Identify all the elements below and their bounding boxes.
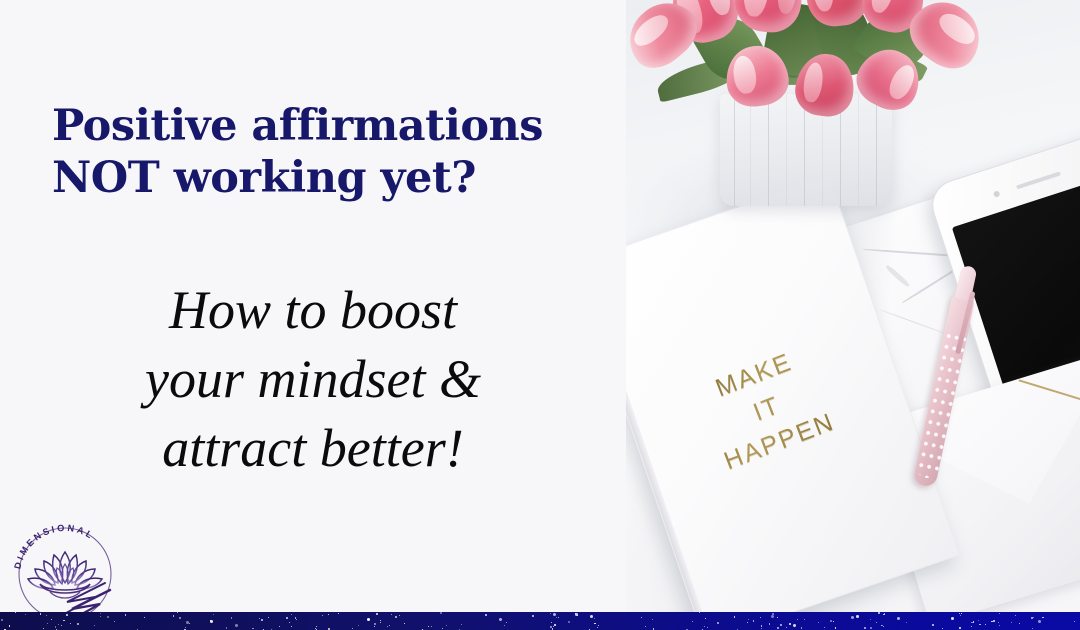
star-dot: [100, 613, 101, 614]
star-dot: [801, 627, 802, 628]
tulip-bouquet: [626, 0, 1010, 202]
star-dot: [973, 621, 974, 622]
star-dot: [835, 627, 836, 628]
star-dot: [532, 615, 534, 617]
star-dot: [404, 623, 405, 624]
star-dot: [692, 621, 693, 622]
star-dot: [575, 613, 576, 614]
star-dot: [851, 616, 854, 619]
hero-photo: MAKE IT HAPPEN: [626, 0, 1080, 612]
star-dot: [753, 620, 754, 621]
star-dot: [55, 626, 56, 627]
star-dot: [235, 624, 238, 627]
star-dot: [594, 618, 595, 619]
star-dot: [717, 622, 719, 624]
star-dot: [387, 626, 388, 627]
star-dot: [761, 625, 762, 626]
star-dot: [279, 626, 280, 627]
star-dot: [558, 617, 559, 618]
star-dot: [979, 624, 980, 625]
star-dot: [959, 627, 961, 629]
star-dot: [878, 612, 880, 614]
star-dot: [100, 616, 101, 617]
star-dot: [797, 619, 798, 620]
star-dot: [707, 627, 708, 628]
star-dot: [391, 614, 392, 615]
star-dot: [226, 627, 227, 628]
star-dot: [380, 620, 381, 621]
star-dot: [177, 612, 178, 613]
star-dot: [1019, 623, 1020, 624]
star-dot: [499, 618, 502, 621]
star-dot: [1074, 621, 1075, 622]
star-dot: [506, 622, 507, 623]
star-dot: [985, 624, 986, 625]
star-dot: [789, 623, 791, 625]
star-dot: [699, 612, 700, 613]
star-dot: [761, 628, 762, 629]
star-dot: [971, 622, 972, 623]
star-dot: [46, 615, 47, 616]
star-dot: [374, 626, 375, 627]
star-dot: [9, 625, 10, 626]
star-dot: [653, 628, 654, 629]
star-dot: [43, 628, 44, 629]
star-dot: [998, 622, 999, 623]
star-dot: [1031, 617, 1033, 619]
star-dot: [769, 623, 770, 624]
star-dot: [824, 627, 825, 628]
star-dot: [568, 621, 570, 623]
star-dot: [645, 626, 646, 627]
star-dot: [804, 619, 805, 620]
star-dot: [252, 628, 253, 629]
star-dot: [978, 620, 979, 621]
notebook-cover-text: MAKE IT HAPPEN: [694, 338, 840, 479]
star-dot: [70, 623, 71, 624]
star-dot: [906, 622, 907, 623]
star-dot: [959, 613, 960, 614]
star-dot: [328, 628, 330, 630]
star-dot: [884, 613, 885, 614]
star-dot: [431, 626, 432, 627]
star-dot: [442, 628, 443, 629]
star-dot: [598, 625, 599, 626]
star-dot: [296, 619, 297, 620]
page-title: Positive affirmations NOT working yet?: [52, 100, 592, 204]
star-dot: [641, 617, 642, 618]
star-dot: [328, 614, 329, 615]
star-dot: [552, 628, 553, 629]
star-dot: [291, 626, 292, 627]
star-dot: [179, 617, 181, 619]
star-dot: [876, 622, 877, 623]
star-dot: [210, 620, 211, 621]
star-dot: [389, 625, 390, 626]
star-dot: [760, 617, 761, 618]
star-dot: [322, 615, 323, 616]
star-dot: [772, 613, 774, 615]
star-dot: [58, 624, 59, 625]
star-dot: [830, 620, 832, 622]
lotus-base: [40, 584, 90, 593]
star-dot: [51, 619, 52, 620]
star-dot: [999, 625, 1000, 626]
star-dot: [213, 614, 214, 615]
star-dot: [971, 626, 972, 627]
star-dot: [551, 622, 552, 623]
star-dot: [47, 623, 48, 624]
star-dot: [556, 617, 557, 618]
star-dot: [380, 622, 381, 623]
star-dot: [440, 612, 442, 614]
phone-speaker: [1016, 171, 1061, 189]
star-dot: [352, 628, 353, 629]
star-dot: [77, 623, 79, 625]
star-dot: [374, 623, 376, 625]
star-dot: [114, 621, 115, 622]
star-dot: [61, 625, 62, 626]
star-dot: [63, 620, 64, 621]
star-dot: [554, 624, 556, 626]
star-dot: [932, 624, 934, 626]
star-dot: [107, 616, 109, 618]
star-dot: [960, 615, 961, 616]
star-dot: [999, 613, 1000, 614]
star-dot: [734, 616, 735, 617]
star-dot: [173, 615, 174, 616]
star-dot: [189, 623, 190, 624]
star-dot: [704, 626, 705, 627]
star-dot: [590, 615, 593, 618]
poster-canvas: Positive affirmations NOT working yet? H…: [0, 0, 1080, 630]
star-dot: [793, 624, 796, 627]
star-dot: [40, 613, 41, 614]
star-dot: [883, 626, 884, 627]
star-dot: [553, 613, 556, 616]
star-dot: [231, 617, 232, 618]
star-dot: [268, 617, 269, 618]
star-dot: [856, 615, 859, 618]
star-dot: [185, 627, 186, 628]
star-dot: [747, 622, 748, 623]
star-dot: [1011, 622, 1012, 623]
star-dot: [777, 617, 778, 618]
star-dot: [786, 627, 787, 628]
star-dot: [870, 627, 872, 629]
star-dot: [833, 621, 834, 622]
star-dot: [144, 617, 145, 618]
star-dot: [748, 619, 749, 620]
star-dot: [291, 614, 292, 615]
star-dot: [942, 628, 943, 629]
star-dot: [771, 615, 774, 618]
star-dot: [338, 613, 339, 614]
left-text-panel: Positive affirmations NOT working yet? H…: [0, 0, 626, 630]
star-dot: [870, 619, 871, 620]
star-dot: [705, 618, 706, 619]
star-dot: [485, 614, 487, 616]
star-dot: [597, 627, 598, 628]
star-dot: [25, 614, 26, 615]
star-dot: [961, 613, 962, 614]
star-dot: [504, 625, 505, 626]
starfield-footer-bar: [0, 612, 1080, 630]
star-dot: [780, 624, 782, 626]
logo-brand-text: DIMENSIONAL: [12, 523, 96, 570]
star-dot: [125, 614, 126, 615]
star-dot: [951, 617, 954, 620]
star-dot: [358, 625, 359, 626]
star-dot: [1015, 615, 1016, 616]
star-dot: [286, 617, 288, 619]
star-dot: [577, 615, 578, 616]
star-dot: [395, 616, 397, 618]
star-dot: [446, 625, 447, 626]
star-dot: [15, 612, 16, 613]
star-dot: [461, 624, 462, 625]
star-dot: [367, 618, 370, 621]
star-dot: [1042, 617, 1043, 618]
page-subtitle: How to boost your mindset & attract bett…: [30, 276, 596, 483]
star-dot: [652, 619, 653, 620]
star-dot: [881, 625, 882, 626]
star-dot: [376, 613, 378, 615]
star-dot: [316, 626, 317, 627]
star-dot: [993, 620, 995, 622]
star-dot: [261, 619, 263, 621]
star-dot: [399, 615, 400, 616]
star-dot: [66, 614, 68, 616]
star-dot: [428, 626, 429, 627]
star-dot: [818, 622, 819, 623]
star-dot: [897, 617, 900, 620]
star-dot: [94, 625, 95, 626]
star-dot: [864, 627, 866, 629]
star-dot: [550, 613, 551, 614]
star-dot: [594, 623, 595, 624]
star-dot: [1038, 620, 1041, 623]
star-dot: [1, 619, 3, 621]
star-dot: [289, 622, 290, 623]
star-dot: [777, 627, 779, 629]
